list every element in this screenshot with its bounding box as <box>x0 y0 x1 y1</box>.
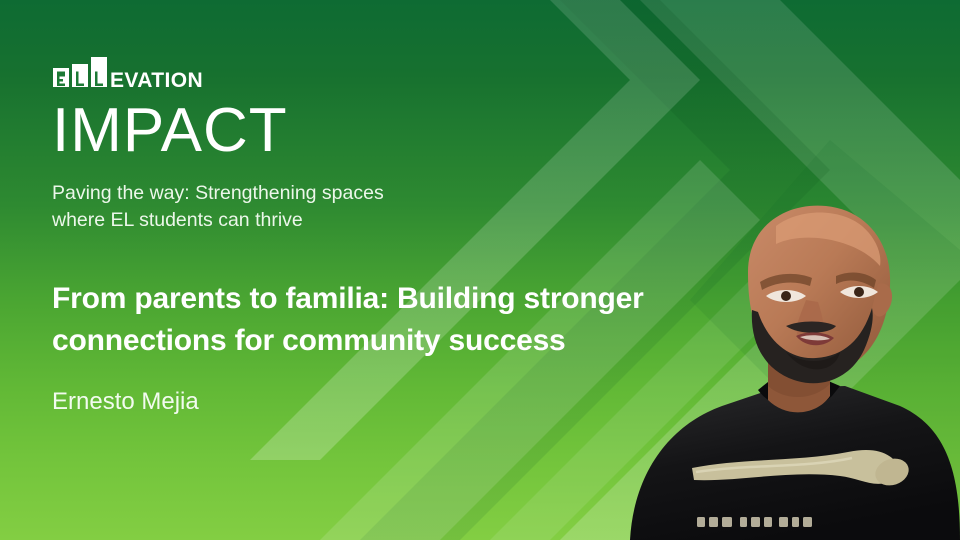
ellevation-logo: EVATION <box>52 58 202 88</box>
impact-title-slide: EVATION IMPACT Paving the way: Strengthe… <box>0 0 960 540</box>
session-title: From parents to familia: Building strong… <box>52 278 732 362</box>
pupil-left <box>781 291 791 301</box>
subtitle-line-1: Paving the way: Strengthening spaces <box>52 180 572 207</box>
program-subtitle: Paving the way: Strengthening spaces whe… <box>52 180 572 234</box>
subtitle-line-2: where EL students can thrive <box>52 207 572 234</box>
session-title-line-2: connections for community success <box>52 320 732 362</box>
logo-wordmark: EVATION <box>110 69 202 88</box>
slide-content: EVATION IMPACT Paving the way: Strengthe… <box>52 0 752 540</box>
session-title-line-1: From parents to familia: Building strong… <box>52 278 732 320</box>
pupil-right <box>854 287 864 297</box>
speaker-name: Ernesto Mejia <box>52 386 199 418</box>
page-title: IMPACT <box>52 100 288 162</box>
